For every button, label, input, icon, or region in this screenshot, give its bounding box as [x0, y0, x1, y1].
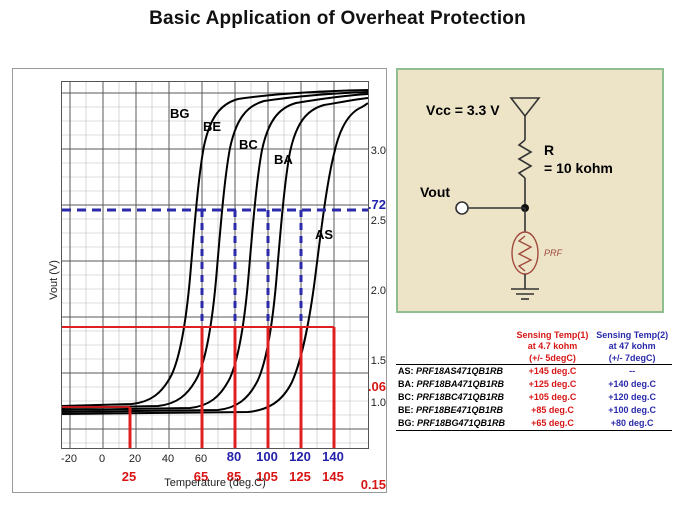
- row-t2-BG: +80 deg.C: [592, 417, 672, 431]
- header-col2-line1: Sensing Temp(2): [592, 330, 672, 341]
- curve-label-BE: BE: [203, 119, 221, 134]
- row-part-BE: BE: PRF18BE471QB1RB: [396, 404, 513, 417]
- curve-label-BG: BG: [170, 106, 190, 121]
- chart-panel: 3.0 2.72 2.5 2.0 1.5 1.06 1.0 0.15 Vout …: [12, 68, 387, 493]
- ground-icon: [511, 289, 539, 299]
- header-blank-3: [396, 353, 513, 365]
- header-col2-line3: (+/- 7degC): [592, 353, 672, 365]
- vcc-triangle-icon: [511, 98, 539, 116]
- resistor-label-value: = 10 kohm: [544, 160, 613, 176]
- circuit-diagram-panel: Vcc = 3.3 V R = 10 kohm Vout PRF: [396, 68, 664, 313]
- table-row: BC: PRF18BC471QB1RB +105 deg.C +120 deg.…: [396, 391, 672, 404]
- row-code-AS: AS:: [398, 366, 414, 376]
- row-t1-BA: +125 deg.C: [513, 378, 593, 391]
- row-part-BC: BC: PRF18BC471QB1RB: [396, 391, 513, 404]
- table-row: BG: PRF18BG471QB1RB +65 deg.C +80 deg.C: [396, 417, 672, 431]
- table-row: AS: PRF18AS471QB1RB +145 deg.C --: [396, 364, 672, 378]
- row-partnum-AS: PRF18AS471QB1RB: [416, 366, 503, 376]
- prf-body-icon: [512, 232, 538, 274]
- table-row: BE: PRF18BE471QB1RB +85 deg.C +100 deg.C: [396, 404, 672, 417]
- header-col1-line3: (+/- 5degC): [513, 353, 593, 365]
- row-code-BA: BA:: [398, 379, 414, 389]
- row-t1-BE: +85 deg.C: [513, 404, 593, 417]
- vout-terminal-icon: [456, 202, 468, 214]
- plot-area: BG BE BC BA AS: [61, 81, 369, 449]
- x-tick-140: 140: [310, 449, 356, 464]
- header-blank: [396, 330, 513, 341]
- table-row: BA: PRF18BA471QB1RB +125 deg.C +140 deg.…: [396, 378, 672, 391]
- table-header-row-1: Sensing Temp(1) Sensing Temp(2): [396, 330, 672, 341]
- row-t1-AS: +145 deg.C: [513, 364, 593, 378]
- y-axis-label: Vout (V): [48, 235, 60, 325]
- header-col1-line1: Sensing Temp(1): [513, 330, 593, 341]
- sensing-temp-table: Sensing Temp(1) Sensing Temp(2) at 4.7 k…: [396, 330, 672, 431]
- page-title: Basic Application of Overheat Protection: [0, 8, 675, 30]
- row-t2-BA: +140 deg.C: [592, 378, 672, 391]
- chart-svg: [62, 82, 368, 448]
- row-code-BE: BE:: [398, 405, 414, 415]
- sensing-temp-table-panel: Sensing Temp(1) Sensing Temp(2) at 4.7 k…: [396, 330, 672, 490]
- curve-set: [62, 90, 368, 414]
- resistor-label-r: R: [544, 142, 554, 158]
- header-blank-2: [396, 341, 513, 352]
- row-partnum-BG: PRF18BG471QB1RB: [417, 418, 505, 428]
- curve-BE: [62, 92, 368, 408]
- row-partnum-BA: PRF18BA471QB1RB: [417, 379, 505, 389]
- row-t2-BE: +100 deg.C: [592, 404, 672, 417]
- row-part-BA: BA: PRF18BA471QB1RB: [396, 378, 513, 391]
- resistor-r-icon: [519, 140, 531, 178]
- row-code-BG: BG:: [398, 418, 415, 428]
- x-axis-label: Temperature (deg.C): [61, 477, 369, 489]
- row-t2-AS: --: [592, 364, 672, 378]
- row-t2-BC: +120 deg.C: [592, 391, 672, 404]
- curve-BA: [62, 98, 368, 412]
- table-header-row-2: at 4.7 kohm at 47 kohm: [396, 341, 672, 352]
- minor-gridlines: [62, 82, 368, 448]
- row-partnum-BE: PRF18BE471QB1RB: [416, 405, 503, 415]
- prf-label: PRF: [544, 248, 562, 258]
- curve-AS: [62, 103, 368, 414]
- header-col2-line2: at 47 kohm: [592, 341, 672, 352]
- curve-label-BA: BA: [274, 152, 293, 167]
- curve-BC: [62, 94, 368, 410]
- row-partnum-BC: PRF18BC471QB1RB: [417, 392, 505, 402]
- row-part-AS: AS: PRF18AS471QB1RB: [396, 364, 513, 378]
- row-part-BG: BG: PRF18BG471QB1RB: [396, 417, 513, 431]
- vcc-label: Vcc = 3.3 V: [426, 102, 500, 118]
- row-t1-BC: +105 deg.C: [513, 391, 593, 404]
- row-t1-BG: +65 deg.C: [513, 417, 593, 431]
- curve-label-AS: AS: [315, 227, 333, 242]
- table-header-row-3: (+/- 5degC) (+/- 7degC): [396, 353, 672, 365]
- curve-label-BC: BC: [239, 137, 258, 152]
- major-gridlines: [62, 82, 368, 448]
- vout-label: Vout: [420, 184, 450, 200]
- header-col1-line2: at 4.7 kohm: [513, 341, 593, 352]
- curve-BG: [62, 90, 368, 406]
- prf-zigzag-icon: [519, 236, 531, 271]
- row-code-BC: BC:: [398, 392, 414, 402]
